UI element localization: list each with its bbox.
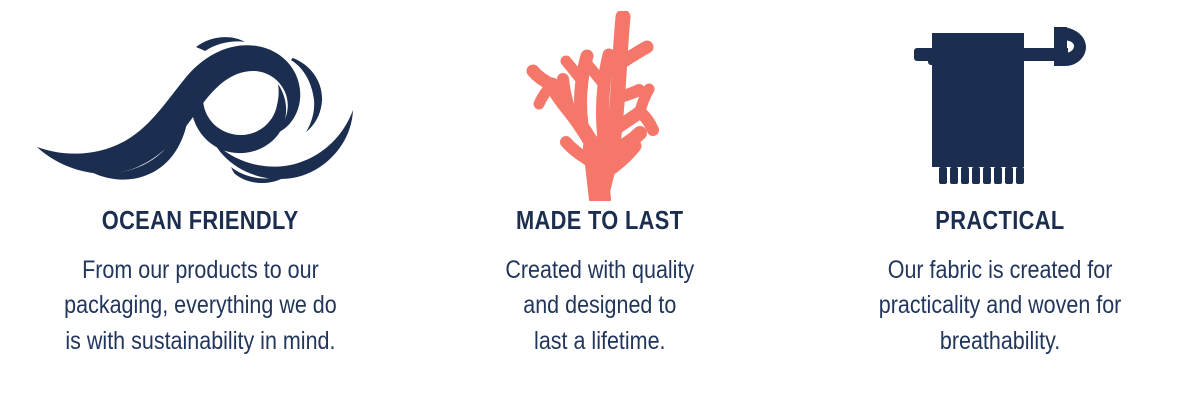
feature-card-practical: PRACTICAL Our fabric is created for prac… (800, 0, 1200, 400)
feature-title: MADE TO LAST (516, 206, 683, 235)
feature-card-ocean-friendly: OCEAN FRIENDLY From our products to our … (0, 0, 400, 400)
feature-body: From our products to our packaging, ever… (64, 253, 337, 360)
feature-list: OCEAN FRIENDLY From our products to our … (0, 0, 1200, 400)
feature-body: Created with quality and designed to las… (506, 253, 695, 360)
feature-title: OCEAN FRIENDLY (102, 206, 299, 235)
feature-title: PRACTICAL (935, 206, 1064, 235)
towel-icon (800, 8, 1200, 204)
wave-icon (0, 8, 400, 204)
feature-card-made-to-last: MADE TO LAST Created with quality and de… (400, 0, 800, 400)
coral-icon (400, 8, 800, 204)
feature-body: Our fabric is created for practicality a… (879, 253, 1122, 360)
